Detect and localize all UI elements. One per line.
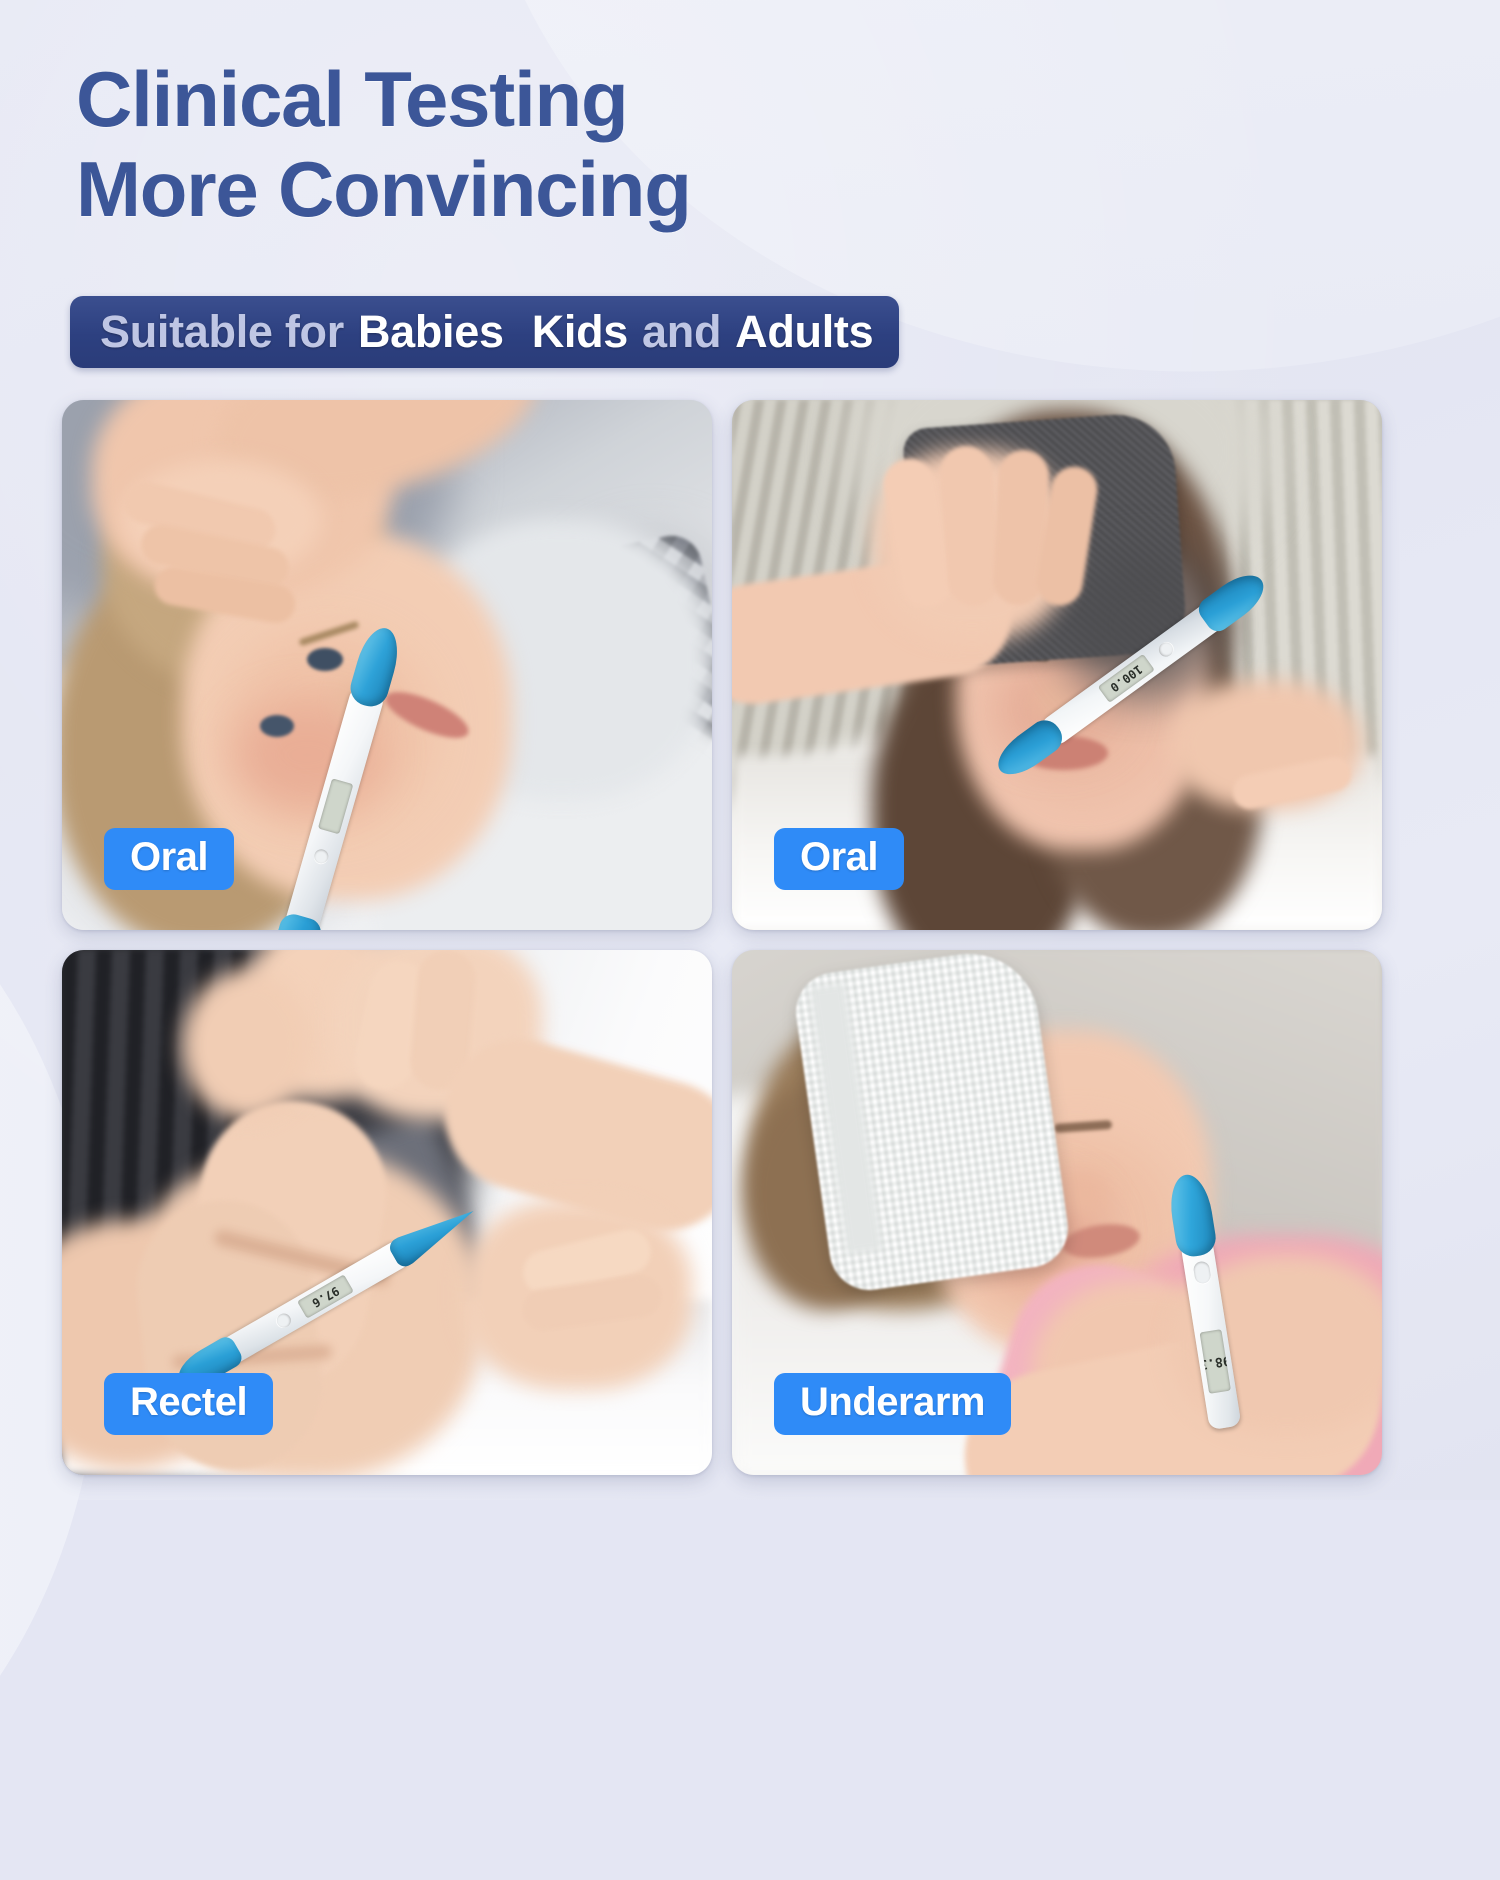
banner-prefix: Suitable for bbox=[100, 306, 344, 358]
badge-rectal-baby: Rectel bbox=[104, 1373, 273, 1435]
banner-word-adults: Adults bbox=[735, 306, 873, 358]
badge-oral-child: Oral bbox=[104, 828, 234, 890]
photo-card-rectal-baby[interactable]: 97.6 Rectel bbox=[62, 950, 712, 1475]
badge-underarm-child: Underarm bbox=[774, 1373, 1011, 1435]
photo-grid: Oral bbox=[62, 400, 1382, 1475]
banner-word-babies: Babies bbox=[358, 306, 504, 358]
badge-oral-adult: Oral bbox=[774, 828, 904, 890]
photo-card-underarm-child[interactable]: 98.3 Underarm bbox=[732, 950, 1382, 1475]
page-title-line-1: Clinical Testing bbox=[76, 54, 1056, 144]
photo-card-oral-adult[interactable]: 100.0 Oral bbox=[732, 400, 1382, 930]
page-title-line-2: More Convincing bbox=[76, 144, 1056, 234]
suitable-for-banner: Suitable for Babies Kids and Adults bbox=[70, 296, 899, 368]
banner-conjunction: and bbox=[642, 306, 721, 358]
photo-card-oral-child[interactable]: Oral bbox=[62, 400, 712, 930]
page-title: Clinical Testing More Convincing bbox=[76, 54, 1056, 235]
banner-word-kids: Kids bbox=[532, 306, 628, 358]
